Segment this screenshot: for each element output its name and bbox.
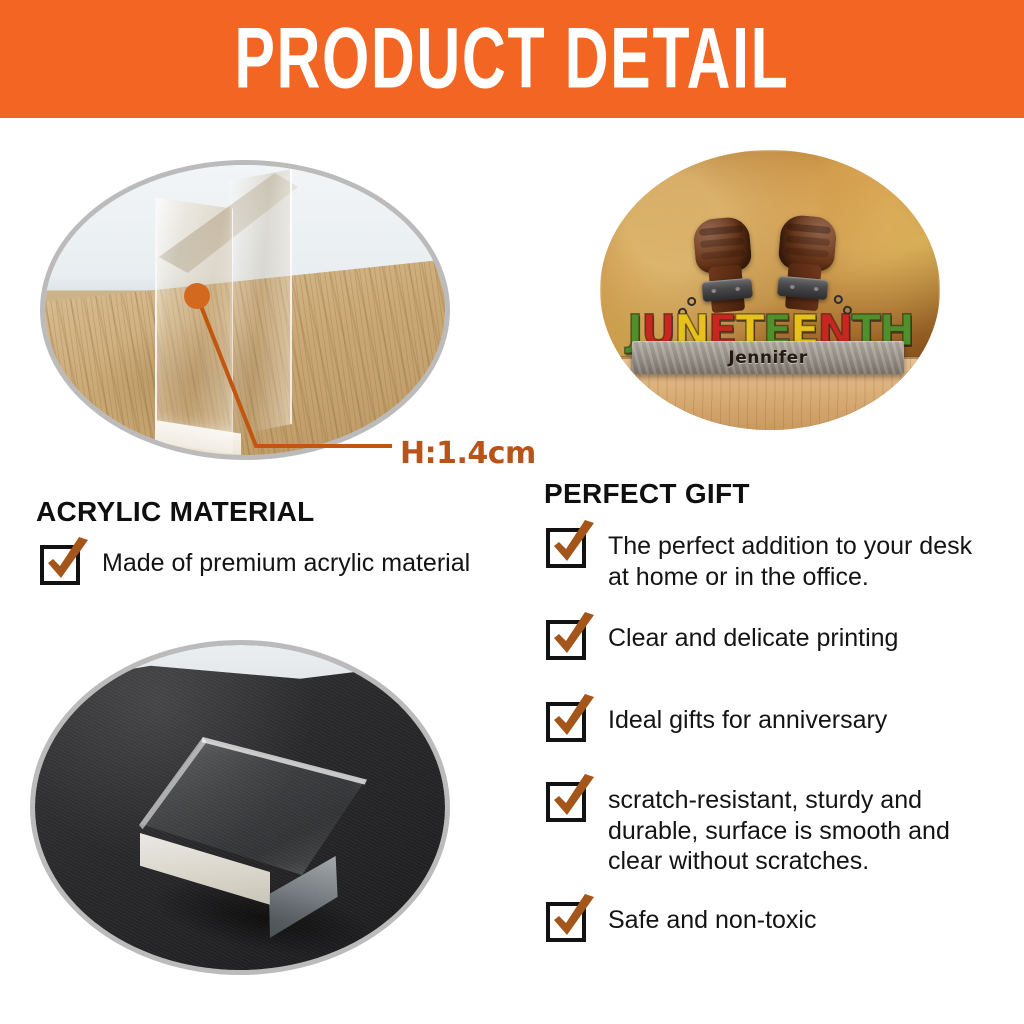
checkmark-icon xyxy=(41,536,93,588)
engraved-name: Jennifer xyxy=(632,341,904,374)
page-header-banner: PRODUCT DETAIL xyxy=(0,0,1024,118)
acrylic-side-face xyxy=(230,169,292,436)
checkbox xyxy=(546,902,586,942)
juneteenth-ornament-photo: J U N E T E E N T H Jennifer xyxy=(600,150,940,430)
checkbox xyxy=(546,702,586,742)
checkmark-icon xyxy=(547,611,599,663)
feature-text: Clear and delicate printing xyxy=(608,620,898,654)
dimension-label: H:1.4cm xyxy=(400,436,536,471)
checkmark-icon xyxy=(547,893,599,945)
feature-text: Ideal gifts for anniversary xyxy=(608,702,887,736)
feature-row: Clear and delicate printing xyxy=(546,620,994,660)
checkmark-icon xyxy=(547,693,599,745)
raised-fist-left xyxy=(692,216,756,313)
feature-text: The perfect addition to your desk at hom… xyxy=(608,528,994,592)
checkbox xyxy=(546,620,586,660)
checkbox xyxy=(40,545,80,585)
checkbox xyxy=(546,782,586,822)
section-heading-acrylic: ACRYLIC MATERIAL xyxy=(36,496,315,528)
feature-row: The perfect addition to your desk at hom… xyxy=(546,528,994,592)
section-heading-gift: PERFECT GIFT xyxy=(544,478,750,510)
feature-text: Made of premium acrylic material xyxy=(102,545,470,579)
feature-row: Ideal gifts for anniversary xyxy=(546,702,994,742)
acrylic-block-flat-photo xyxy=(30,640,450,975)
feature-row: Safe and non-toxic xyxy=(546,902,994,942)
page-title: PRODUCT DETAIL xyxy=(235,16,790,103)
checkmark-icon xyxy=(547,773,599,825)
acrylic-block-edge-photo xyxy=(40,160,450,460)
feature-row: scratch-resistant, sturdy and durable, s… xyxy=(546,782,998,877)
checkmark-icon xyxy=(547,519,599,571)
feature-row: Made of premium acrylic material xyxy=(40,545,510,585)
raised-fist-right xyxy=(774,214,838,311)
shackle-cuff xyxy=(777,276,829,300)
feature-text: Safe and non-toxic xyxy=(608,902,816,936)
acrylic-front-face xyxy=(155,198,233,454)
stone-base: Jennifer xyxy=(632,341,904,374)
feature-text: scratch-resistant, sturdy and durable, s… xyxy=(608,782,998,877)
checkbox xyxy=(546,528,586,568)
shackle-cuff xyxy=(701,278,753,302)
